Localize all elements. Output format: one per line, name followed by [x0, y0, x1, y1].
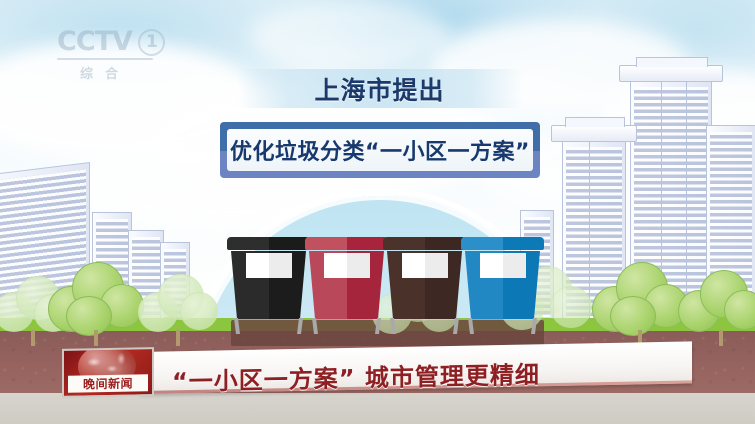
ticker-text: “一小区一方案” 城市管理更精细 — [172, 354, 540, 396]
bin-lid — [461, 237, 544, 250]
bin-label — [480, 253, 526, 278]
channel-number: 1 — [138, 29, 165, 56]
bin-lid — [383, 237, 466, 250]
logo-underline — [57, 58, 153, 60]
bin-legs — [387, 318, 462, 334]
broadcast-frame: CCTV 1 综合 上海市提出 优化垃圾分类“一小区一方案” “一小区一方案” … — [0, 0, 755, 424]
headline-banner-inner: 优化垃圾分类“一小区一方案” — [227, 129, 533, 171]
headline-main-text: 优化垃圾分类“一小区一方案” — [230, 134, 530, 166]
news-ticker: “一小区一方案” 城市管理更精细 晚间新闻 — [62, 348, 692, 397]
program-name-plate: 晚间新闻 — [68, 374, 148, 393]
red-bin[interactable] — [309, 237, 384, 334]
headline-banner: 优化垃圾分类“一小区一方案” — [220, 122, 540, 178]
bin-lid — [305, 237, 388, 250]
cctv-wordmark: CCTV 1 — [57, 28, 179, 56]
black-bin[interactable] — [231, 237, 306, 334]
headline-kicker-text: 上海市提出 — [314, 71, 444, 107]
bin-label — [324, 253, 370, 278]
program-logo: 晚间新闻 — [62, 347, 154, 398]
bin-label — [246, 253, 292, 278]
bin-legs — [309, 318, 384, 334]
channel-sub-label: 综合 — [57, 63, 153, 82]
headline-kicker: 上海市提出 — [237, 69, 522, 108]
program-name-text: 晚间新闻 — [83, 375, 133, 393]
bin-legs — [465, 318, 540, 334]
bin-lid — [227, 237, 310, 250]
brown-bin[interactable] — [387, 237, 462, 334]
cctv-channel-logo: CCTV 1 综合 — [57, 28, 179, 86]
blue-bin[interactable] — [465, 237, 540, 334]
bin-label — [402, 253, 448, 278]
cctv-letters: CCTV — [57, 28, 132, 56]
bin-legs — [231, 318, 306, 334]
